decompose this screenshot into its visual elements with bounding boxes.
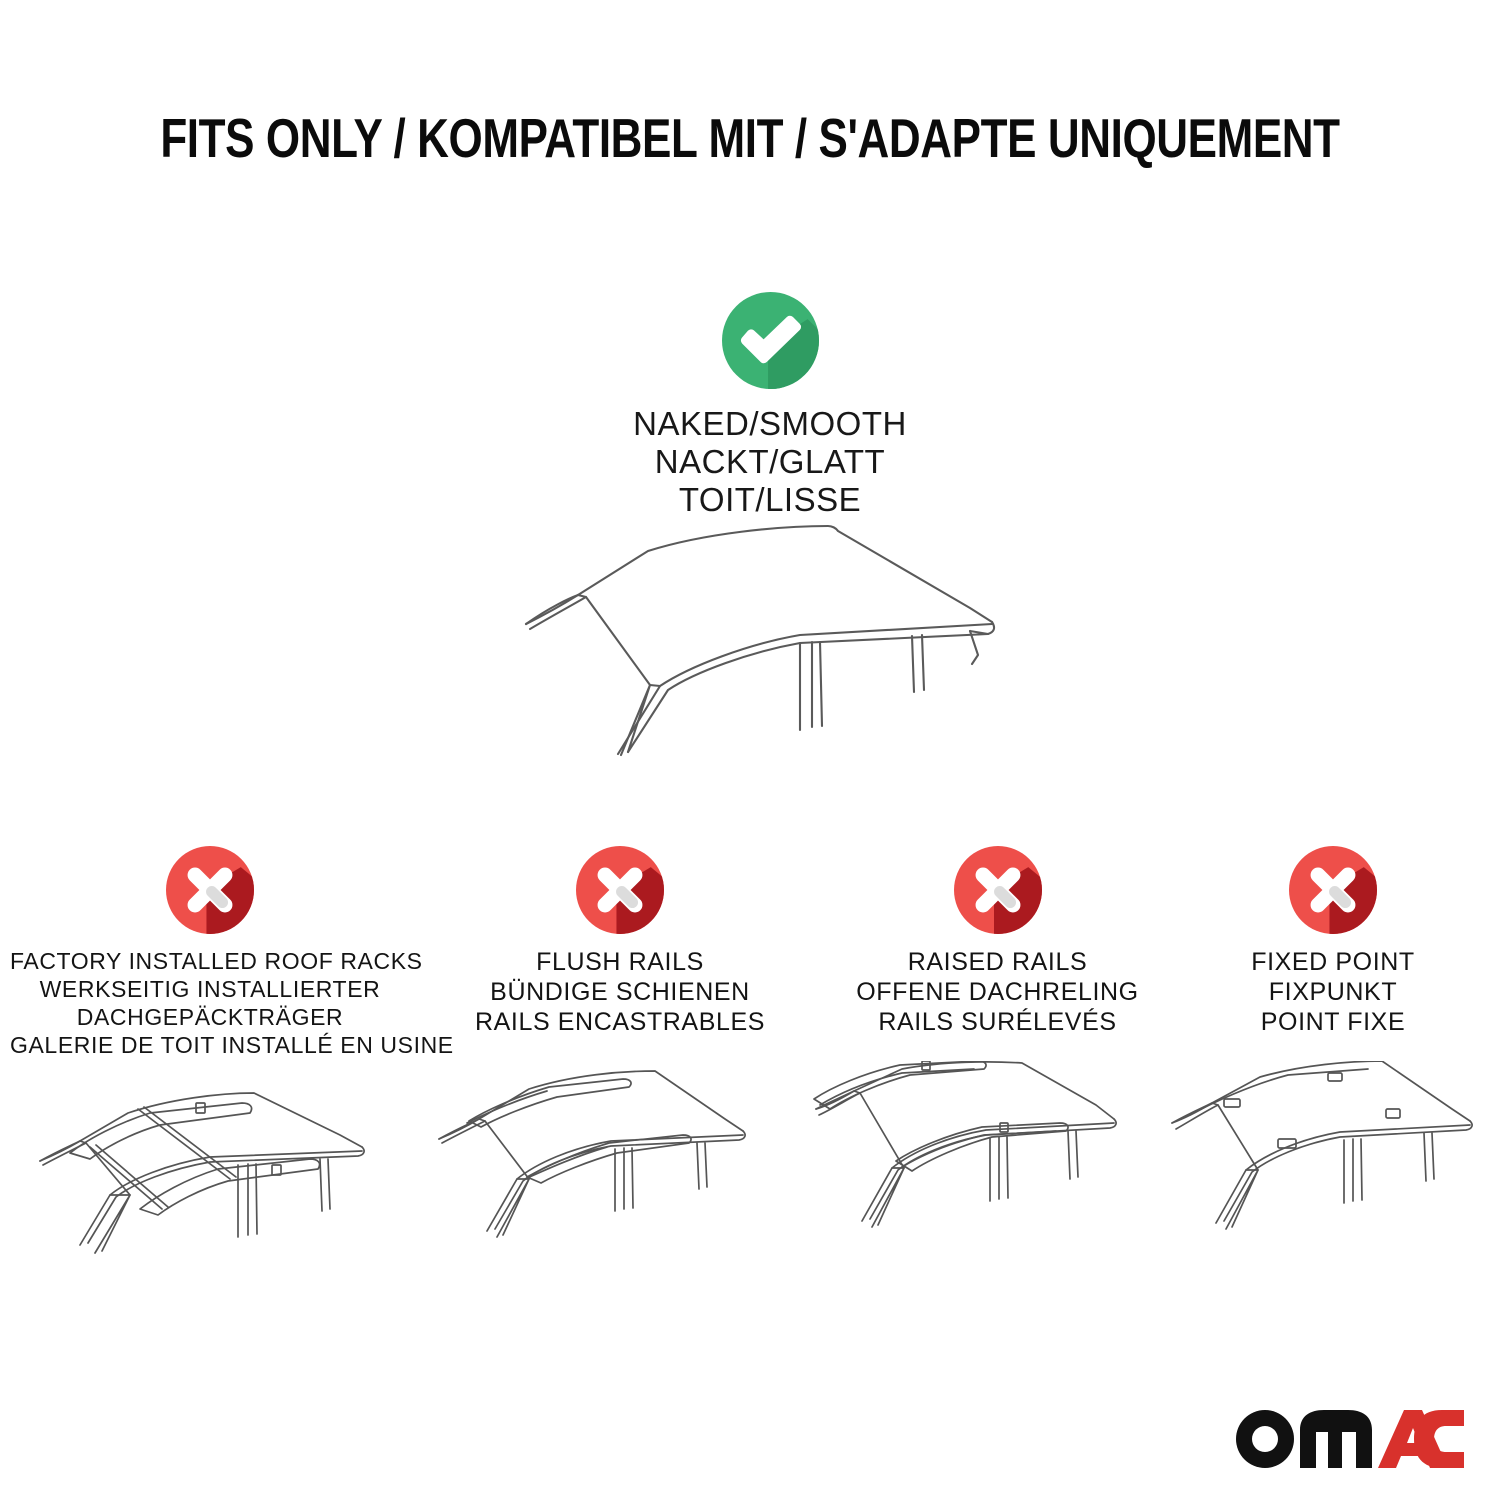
label-line-1: FLUSH RAILS bbox=[425, 947, 815, 977]
incompatible-roof-type-fixed-point: FIXED POINT FIXPUNKT POINT FIXE bbox=[1168, 846, 1498, 1037]
x-circle-icon bbox=[166, 846, 254, 934]
omac-logo bbox=[1232, 1404, 1464, 1470]
label-line-2: FIXPUNKT bbox=[1168, 977, 1498, 1007]
page-title: FITS ONLY / KOMPATIBEL MIT / S'ADAPTE UN… bbox=[150, 106, 1350, 170]
compatible-label-en: NAKED/SMOOTH bbox=[470, 405, 1070, 443]
x-circle-icon bbox=[954, 846, 1042, 934]
incompatible-labels-1: FACTORY INSTALLED ROOF RACKS WERKSEITIG … bbox=[10, 947, 410, 1059]
incompatible-roof-type-factory-roof-racks: FACTORY INSTALLED ROOF RACKS WERKSEITIG … bbox=[10, 846, 410, 1059]
check-circle-icon bbox=[722, 292, 819, 389]
compatible-labels: NAKED/SMOOTH NACKT/GLATT TOIT/LISSE bbox=[470, 405, 1070, 519]
incompatible-labels-3: RAISED RAILS OFFENE DACHRELING RAILS SUR… bbox=[810, 947, 1185, 1037]
label-line-2: OFFENE DACHRELING bbox=[810, 977, 1185, 1007]
label-line-1: FACTORY INSTALLED ROOF RACKS bbox=[10, 947, 410, 975]
label-line-2: BÜNDIGE SCHIENEN bbox=[425, 977, 815, 1007]
incompatible-roof-type-raised-rails: RAISED RAILS OFFENE DACHRELING RAILS SUR… bbox=[810, 846, 1185, 1037]
label-line-3: RAILS SURÉLEVÉS bbox=[810, 1007, 1185, 1037]
incompatible-roof-type-flush-rails: FLUSH RAILS BÜNDIGE SCHIENEN RAILS ENCAS… bbox=[425, 846, 815, 1037]
label-line-4: GALERIE DE TOIT INSTALLÉ EN USINE bbox=[10, 1031, 410, 1059]
car-roof-flush-rails-illustration bbox=[425, 1061, 815, 1291]
label-line-3: RAILS ENCASTRABLES bbox=[425, 1007, 815, 1037]
incompatible-labels-4: FIXED POINT FIXPUNKT POINT FIXE bbox=[1168, 947, 1498, 1037]
logo-letter-c bbox=[1414, 1410, 1464, 1468]
label-line-1: FIXED POINT bbox=[1168, 947, 1498, 977]
incompatible-labels-2: FLUSH RAILS BÜNDIGE SCHIENEN RAILS ENCAS… bbox=[425, 947, 815, 1037]
label-line-3: DACHGEPÄCKTRÄGER bbox=[10, 1003, 410, 1031]
car-roof-naked-smooth-illustration bbox=[500, 512, 1020, 802]
logo-letter-m bbox=[1300, 1410, 1372, 1468]
car-roof-factory-roof-racks-illustration bbox=[10, 1061, 410, 1291]
compatible-roof-type: NAKED/SMOOTH NACKT/GLATT TOIT/LISSE bbox=[470, 292, 1070, 519]
label-line-1: RAISED RAILS bbox=[810, 947, 1185, 977]
label-line-3: POINT FIXE bbox=[1168, 1007, 1498, 1037]
x-circle-icon bbox=[1289, 846, 1377, 934]
compatible-label-de: NACKT/GLATT bbox=[470, 443, 1070, 481]
car-roof-fixed-point-illustration bbox=[1168, 1061, 1498, 1291]
car-roof-raised-rails-illustration bbox=[810, 1061, 1185, 1291]
logo-letter-o bbox=[1236, 1410, 1294, 1468]
x-circle-icon bbox=[576, 846, 664, 934]
label-line-2: WERKSEITIG INSTALLIERTER bbox=[10, 975, 410, 1003]
